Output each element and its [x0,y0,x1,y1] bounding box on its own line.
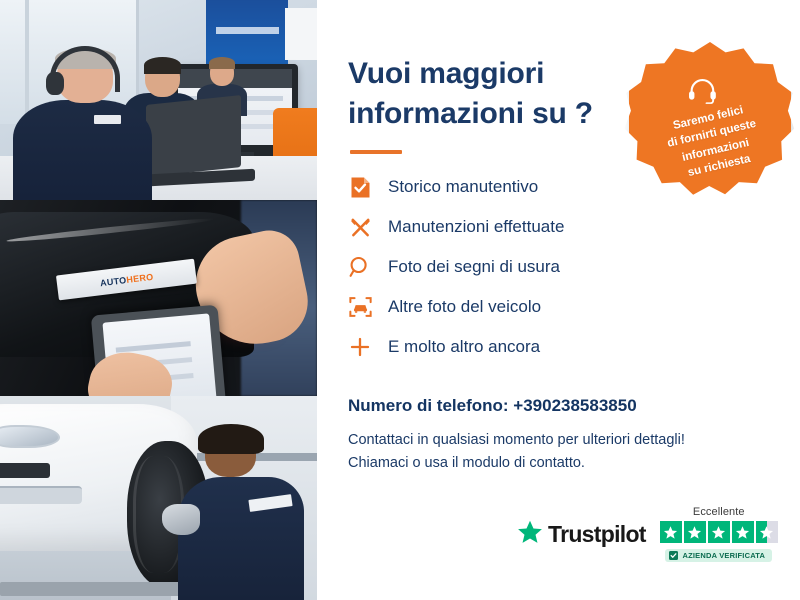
magnifier-icon [348,255,372,279]
star-rating [660,521,778,543]
laptop [146,95,241,177]
verified-label: AZIENDA VERIFICATA [682,551,765,560]
star-3 [708,521,730,543]
content-panel: Vuoi maggiori informazioni su ? Storico … [317,0,800,600]
feature-item-altre-foto-veicolo: Altre foto del veicolo [348,292,770,322]
photo-column: AUTOHERO [0,0,317,600]
agent-name-badge [94,115,122,124]
star-5-half [756,521,778,543]
agent-foreground [13,48,152,200]
headset-earcup [46,72,64,95]
title-divider [350,150,402,154]
trustpilot-widget[interactable]: Trustpilot Eccellente [517,506,778,562]
tools-cross-icon [348,215,372,239]
car-grille [0,463,50,478]
rating-label: Eccellente [693,506,745,518]
verified-company-badge: AZIENDA VERIFICATA [665,549,772,562]
agent-torso [13,100,152,200]
brand-auto-text: AUTO [99,274,127,287]
plus-icon [348,335,372,359]
support-promise-badge: Saremo felici di fornirti queste informa… [629,42,791,204]
document-check-icon [348,175,372,199]
vehicle-inspection-ruler-photo: AUTOHERO [0,200,317,396]
call-center-agents-photo [0,0,317,200]
feature-label: E molto altro ancora [388,337,540,357]
star-1 [660,521,682,543]
feature-label: Foto dei segni di usura [388,257,560,277]
ruler-brand-label: AUTOHERO [99,271,154,287]
trustpilot-star-icon [517,519,543,550]
mechanic-hair [198,424,264,455]
star-4 [732,521,754,543]
headset-icon [643,78,761,109]
agent-hair [209,57,235,69]
contact-line-2: Chiamaci o usa il modulo di contatto. [348,452,770,474]
page-title: Vuoi maggiori informazioni su ? [348,54,648,133]
contact-block: Numero di telefono: +390238583850 Contat… [348,396,770,474]
brand-hero-text: HERO [126,271,154,284]
wall-poster-white [285,8,317,60]
trustpilot-wordmark: Trustpilot [548,521,646,548]
verified-check-icon [669,551,678,560]
feature-label: Altre foto del veicolo [388,297,541,317]
car-scan-icon [348,295,372,319]
feature-item-manutenzioni-effettuate: Manutenzioni effettuate [348,212,770,242]
star-2 [684,521,706,543]
advertisement-banner: AUTOHERO [0,0,800,600]
feature-item-molto-altro: E molto altro ancora [348,332,770,362]
feature-label: Storico manutentivo [388,177,538,197]
car-headlight [0,425,60,449]
trustpilot-logo: Trustpilot [517,519,646,550]
car-bumper [0,486,82,504]
trustpilot-rating: Eccellente [660,506,778,562]
feature-item-foto-segni-usura: Foto dei segni di usura [348,252,770,282]
mechanic-wheel-check-photo [0,396,317,600]
feature-label: Manutenzioni effettuate [388,217,564,237]
car-lift-platform [0,582,184,596]
phone-number-title: Numero di telefono: +390238583850 [348,396,770,416]
contact-line-1: Contattaci in qualsiasi momento per ulte… [348,429,770,451]
mechanic-glove [162,504,200,535]
mechanic-person [178,429,305,600]
